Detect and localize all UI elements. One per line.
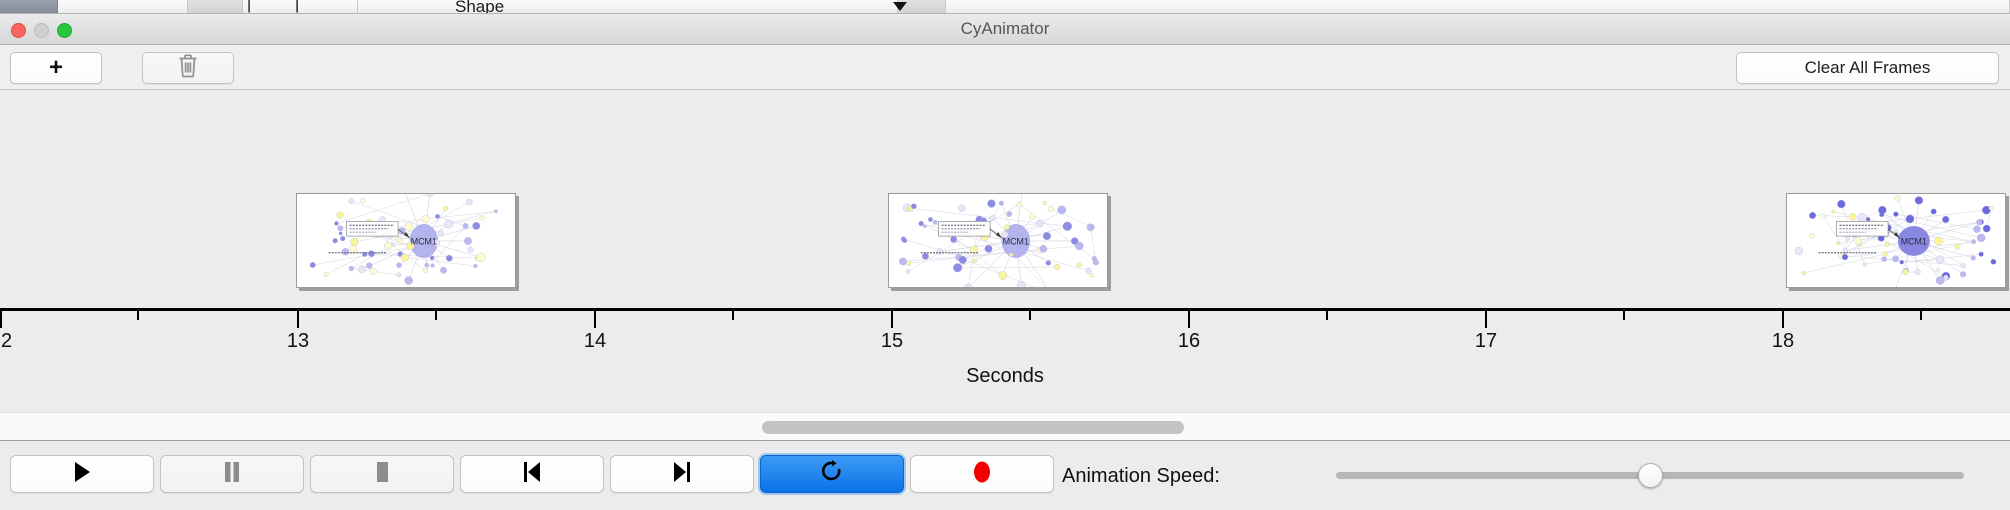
animation-speed-slider-thumb[interactable] bbox=[1638, 463, 1663, 488]
animation-speed-label: Animation Speed: bbox=[1062, 465, 1220, 488]
axis-tick bbox=[732, 311, 734, 320]
axis-tick bbox=[1920, 311, 1922, 320]
axis-tick bbox=[891, 311, 893, 328]
bg-segment bbox=[358, 0, 898, 13]
bg-window-label: Shape bbox=[455, 0, 504, 14]
axis-tick bbox=[435, 311, 437, 320]
timeline-frame[interactable]: MCM1 bbox=[888, 193, 1108, 288]
last-frame-button[interactable] bbox=[610, 455, 754, 493]
timeline-frame[interactable]: MCM1 bbox=[296, 193, 516, 288]
play-button[interactable] bbox=[10, 455, 154, 493]
axis-tick bbox=[297, 311, 299, 328]
trash-icon bbox=[177, 53, 199, 84]
first-frame-button[interactable] bbox=[460, 455, 604, 493]
clear-all-frames-button[interactable]: Clear All Frames bbox=[1736, 52, 1999, 84]
delete-frame-button[interactable] bbox=[142, 52, 234, 84]
axis-tick-label: 12 bbox=[0, 330, 12, 353]
bg-segment bbox=[946, 0, 2010, 13]
animation-speed-slider[interactable] bbox=[1336, 472, 1964, 479]
svg-text:MCM1: MCM1 bbox=[1901, 236, 1927, 246]
bg-segment bbox=[58, 0, 188, 13]
background-window: | | Shape bbox=[0, 0, 2010, 14]
svg-text:MCM1: MCM1 bbox=[1003, 236, 1029, 246]
axis-tick bbox=[1782, 311, 1784, 328]
axis-title: Seconds bbox=[0, 365, 2010, 388]
plus-icon: + bbox=[49, 56, 63, 80]
bg-segment bbox=[188, 0, 243, 13]
window-title: CyAnimator bbox=[0, 19, 2010, 39]
bg-segment bbox=[0, 0, 58, 13]
title-bar: CyAnimator bbox=[0, 14, 2010, 45]
pause-icon bbox=[223, 461, 241, 488]
timeline-panel[interactable]: MCM1 MCM1 MCM1 12131415161718 Seconds bbox=[0, 90, 2010, 412]
playback-bar: Animation Speed: bbox=[0, 442, 2010, 510]
axis-tick-label: 17 bbox=[1475, 330, 1497, 353]
cyanimator-window: | | Shape CyAnimator + bbox=[0, 0, 2010, 510]
axis-tick bbox=[1326, 311, 1328, 320]
axis-tick bbox=[1623, 311, 1625, 320]
stop-button[interactable] bbox=[310, 455, 454, 493]
svg-text:MCM1: MCM1 bbox=[411, 236, 437, 246]
axis-tick bbox=[137, 311, 139, 320]
axis-tick bbox=[0, 311, 2, 328]
loop-button[interactable] bbox=[760, 455, 904, 493]
axis-line bbox=[0, 308, 2010, 311]
timeline-scrollbar[interactable] bbox=[0, 412, 2010, 441]
stop-icon bbox=[373, 461, 391, 488]
record-icon bbox=[971, 460, 993, 489]
axis-tick-label: 14 bbox=[584, 330, 606, 353]
bg-segment bbox=[298, 0, 358, 13]
axis-tick-label: 16 bbox=[1178, 330, 1200, 353]
timeline-frame[interactable]: MCM1 bbox=[1786, 193, 2006, 288]
axis-tick bbox=[1188, 311, 1190, 328]
axis-tick-label: 18 bbox=[1772, 330, 1794, 353]
axis-tick bbox=[1485, 311, 1487, 328]
bg-segment bbox=[243, 0, 298, 13]
skip-forward-icon bbox=[672, 461, 692, 488]
axis-tick-label: 15 bbox=[881, 330, 903, 353]
axis-tick bbox=[1029, 311, 1031, 320]
pause-button[interactable] bbox=[160, 455, 304, 493]
clear-all-frames-label: Clear All Frames bbox=[1805, 58, 1931, 78]
play-icon bbox=[73, 461, 91, 488]
timeline-axis: 12131415161718 Seconds bbox=[0, 308, 2010, 412]
record-button[interactable] bbox=[910, 455, 1054, 493]
add-frame-button[interactable]: + bbox=[10, 52, 102, 84]
axis-tick bbox=[594, 311, 596, 328]
frame-toolbar: + Clear All Frames bbox=[0, 45, 2010, 90]
axis-tick-label: 13 bbox=[287, 330, 309, 353]
skip-back-icon bbox=[522, 461, 542, 488]
loop-icon bbox=[821, 460, 843, 489]
scrollbar-thumb[interactable] bbox=[762, 421, 1184, 434]
